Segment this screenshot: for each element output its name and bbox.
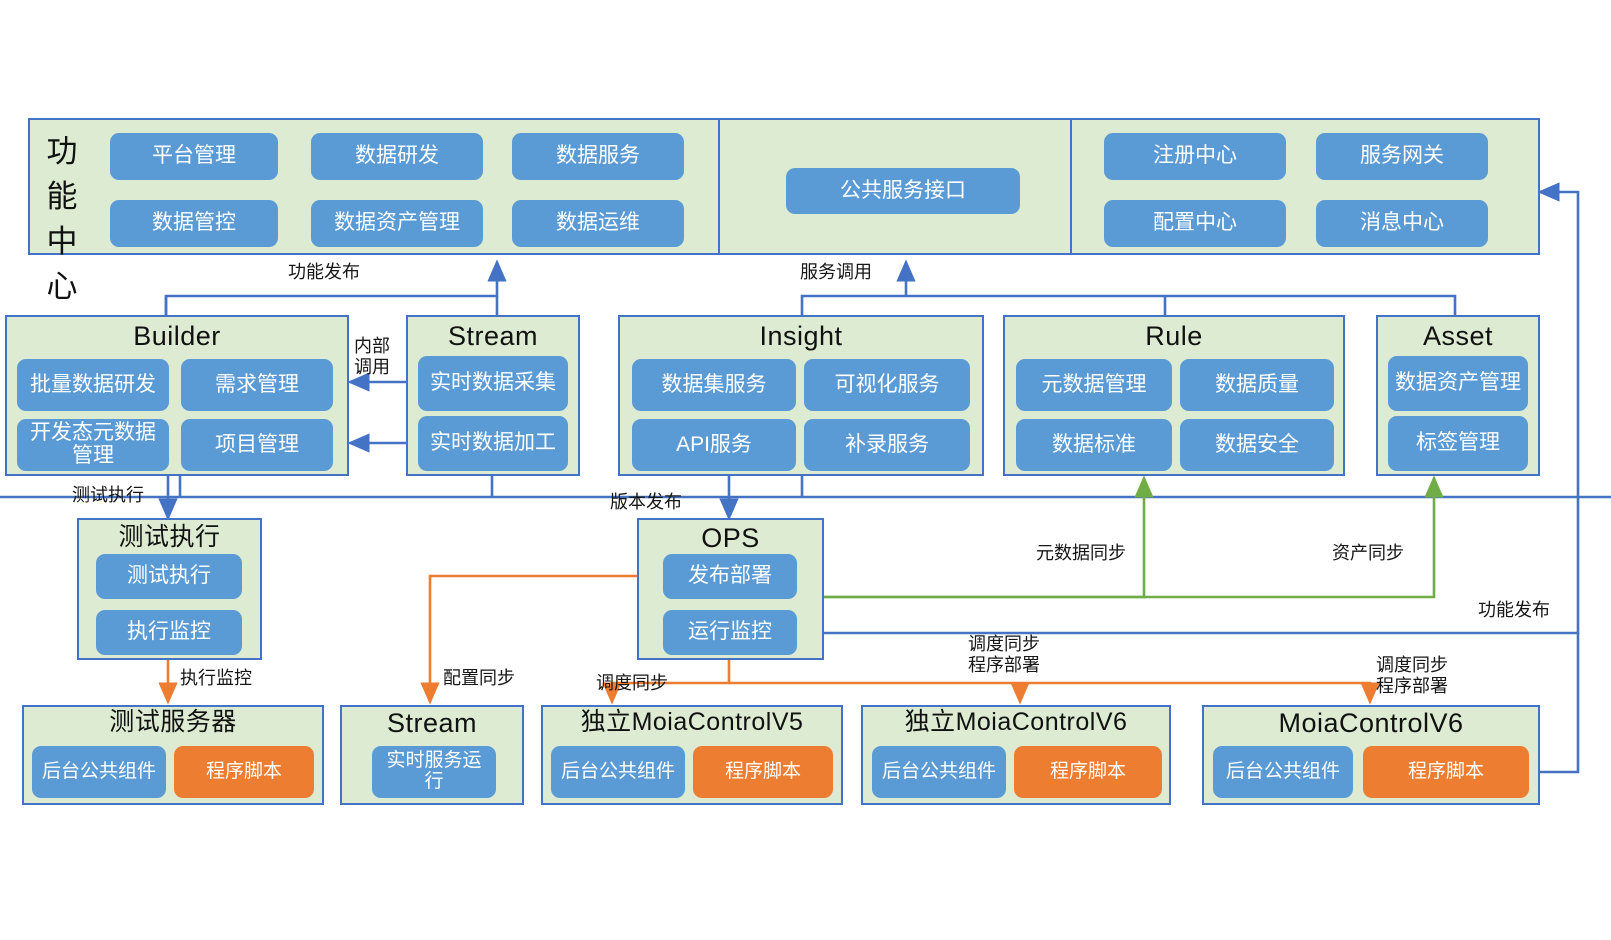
label-test-exec: 测试执行: [72, 485, 144, 506]
label-service-call: 服务调用: [800, 262, 872, 283]
ops-tile-deploy[interactable]: 发布部署: [663, 554, 797, 599]
label-exec-monitor: 执行监控: [180, 668, 252, 689]
builder-tile-batch-dev[interactable]: 批量数据研发: [17, 359, 169, 411]
label-func-publish-right: 功能发布: [1478, 600, 1550, 621]
test-server-tile-common-components[interactable]: 后台公共组件: [32, 746, 166, 798]
fc-tile-data-asset-mgmt[interactable]: 数据资产管理: [311, 200, 483, 247]
test-exec-tile-monitor[interactable]: 执行监控: [96, 610, 242, 655]
fc-tile-registry[interactable]: 注册中心: [1104, 133, 1286, 180]
fc-tile-gateway[interactable]: 服务网关: [1316, 133, 1488, 180]
fc-char-0: 功: [47, 126, 78, 171]
fc-divider-1: [718, 120, 720, 253]
ops-title: OPS: [639, 524, 822, 552]
wire-internal-call: [350, 382, 408, 443]
moia-v6-standalone-tile-common-components[interactable]: 后台公共组件: [872, 746, 1006, 798]
function-center-label: 功 能 中 心: [40, 126, 84, 248]
label-asset-sync: 资产同步: [1332, 543, 1404, 564]
moia-v5-tile-script[interactable]: 程序脚本: [693, 746, 833, 798]
label-sched-sync-deploy: 调度同步 程序部署: [968, 634, 1040, 675]
insight-tile-visual-service[interactable]: 可视化服务: [804, 359, 970, 411]
ops-tile-runtime-monitor[interactable]: 运行监控: [663, 610, 797, 655]
wire-service-call: [802, 262, 1455, 316]
insight-tile-backfill-service[interactable]: 补录服务: [804, 419, 970, 471]
builder-title: Builder: [7, 322, 347, 350]
test-exec-tile-run[interactable]: 测试执行: [96, 554, 242, 599]
insight-title: Insight: [620, 322, 982, 350]
fc-char-2: 中: [47, 216, 78, 261]
asset-tile-tag-mgmt[interactable]: 标签管理: [1388, 416, 1528, 471]
rule-tile-data-quality[interactable]: 数据质量: [1180, 359, 1334, 411]
label-version-publish: 版本发布: [610, 492, 682, 513]
insight-tile-api-service[interactable]: API服务: [632, 419, 796, 471]
moia-v6-tile-script[interactable]: 程序脚本: [1363, 746, 1529, 798]
stream-server-title: Stream: [342, 709, 522, 737]
builder-tile-dev-metadata[interactable]: 开发态元数据管理: [17, 419, 169, 471]
insight-tile-dataset-service[interactable]: 数据集服务: [632, 359, 796, 411]
architecture-diagram: 功 能 中 心 平台管理 数据研发 数据服务 数据管控 数据资产管理 数据运维 …: [0, 0, 1611, 940]
label-config-sync: 配置同步: [443, 668, 515, 689]
fc-tile-config-center[interactable]: 配置中心: [1104, 200, 1286, 247]
moia-v6-title: MoiaControlV6: [1204, 709, 1538, 737]
fc-char-1: 能: [47, 171, 78, 216]
moia-v6-standalone-title: 独立MoiaControlV6: [863, 709, 1169, 735]
stream-tile-realtime-collect[interactable]: 实时数据采集: [418, 356, 568, 411]
asset-tile-data-asset-mgmt[interactable]: 数据资产管理: [1388, 356, 1528, 411]
label-meta-sync: 元数据同步: [1036, 543, 1126, 564]
label-func-publish-top: 功能发布: [288, 262, 360, 283]
fc-tile-data-dev[interactable]: 数据研发: [311, 133, 483, 180]
test-server-title: 测试服务器: [24, 709, 322, 735]
wire-asset-sync: [824, 478, 1434, 597]
wire-version-publish: [0, 476, 1611, 518]
wire-meta-sync: [824, 478, 1144, 597]
wire-func-publish-right: [824, 192, 1578, 772]
label-sched-sync-deploy-right: 调度同步 程序部署: [1376, 655, 1448, 696]
asset-title: Asset: [1378, 322, 1538, 350]
fc-tile-data-ops[interactable]: 数据运维: [512, 200, 684, 247]
fc-tile-data-service[interactable]: 数据服务: [512, 133, 684, 180]
stream-server-tile-realtime-runtime[interactable]: 实时服务运行: [372, 746, 496, 798]
moia-v5-title: 独立MoiaControlV5: [543, 709, 841, 735]
test-exec-title: 测试执行: [79, 524, 260, 550]
rule-title: Rule: [1005, 322, 1343, 350]
stream-title: Stream: [408, 322, 578, 350]
fc-char-3: 心: [47, 261, 78, 306]
fc-tile-public-service-api[interactable]: 公共服务接口: [786, 168, 1020, 214]
builder-tile-project-mgmt[interactable]: 项目管理: [181, 419, 333, 471]
test-server-tile-script[interactable]: 程序脚本: [174, 746, 314, 798]
label-internal-call: 内部 调用: [344, 336, 400, 377]
builder-tile-demand-mgmt[interactable]: 需求管理: [181, 359, 333, 411]
label-sched-sync: 调度同步: [596, 673, 668, 694]
rule-tile-metadata-mgmt[interactable]: 元数据管理: [1016, 359, 1172, 411]
moia-v5-tile-common-components[interactable]: 后台公共组件: [551, 746, 685, 798]
fc-tile-data-govern[interactable]: 数据管控: [110, 200, 278, 247]
rule-tile-data-standard[interactable]: 数据标准: [1016, 419, 1172, 471]
moia-v6-standalone-tile-script[interactable]: 程序脚本: [1014, 746, 1162, 798]
fc-tile-platform-mgmt[interactable]: 平台管理: [110, 133, 278, 180]
stream-tile-realtime-process[interactable]: 实时数据加工: [418, 416, 568, 471]
rule-tile-data-security[interactable]: 数据安全: [1180, 419, 1334, 471]
moia-v6-tile-common-components[interactable]: 后台公共组件: [1213, 746, 1353, 798]
fc-divider-2: [1070, 120, 1072, 253]
fc-tile-message-center[interactable]: 消息中心: [1316, 200, 1488, 247]
